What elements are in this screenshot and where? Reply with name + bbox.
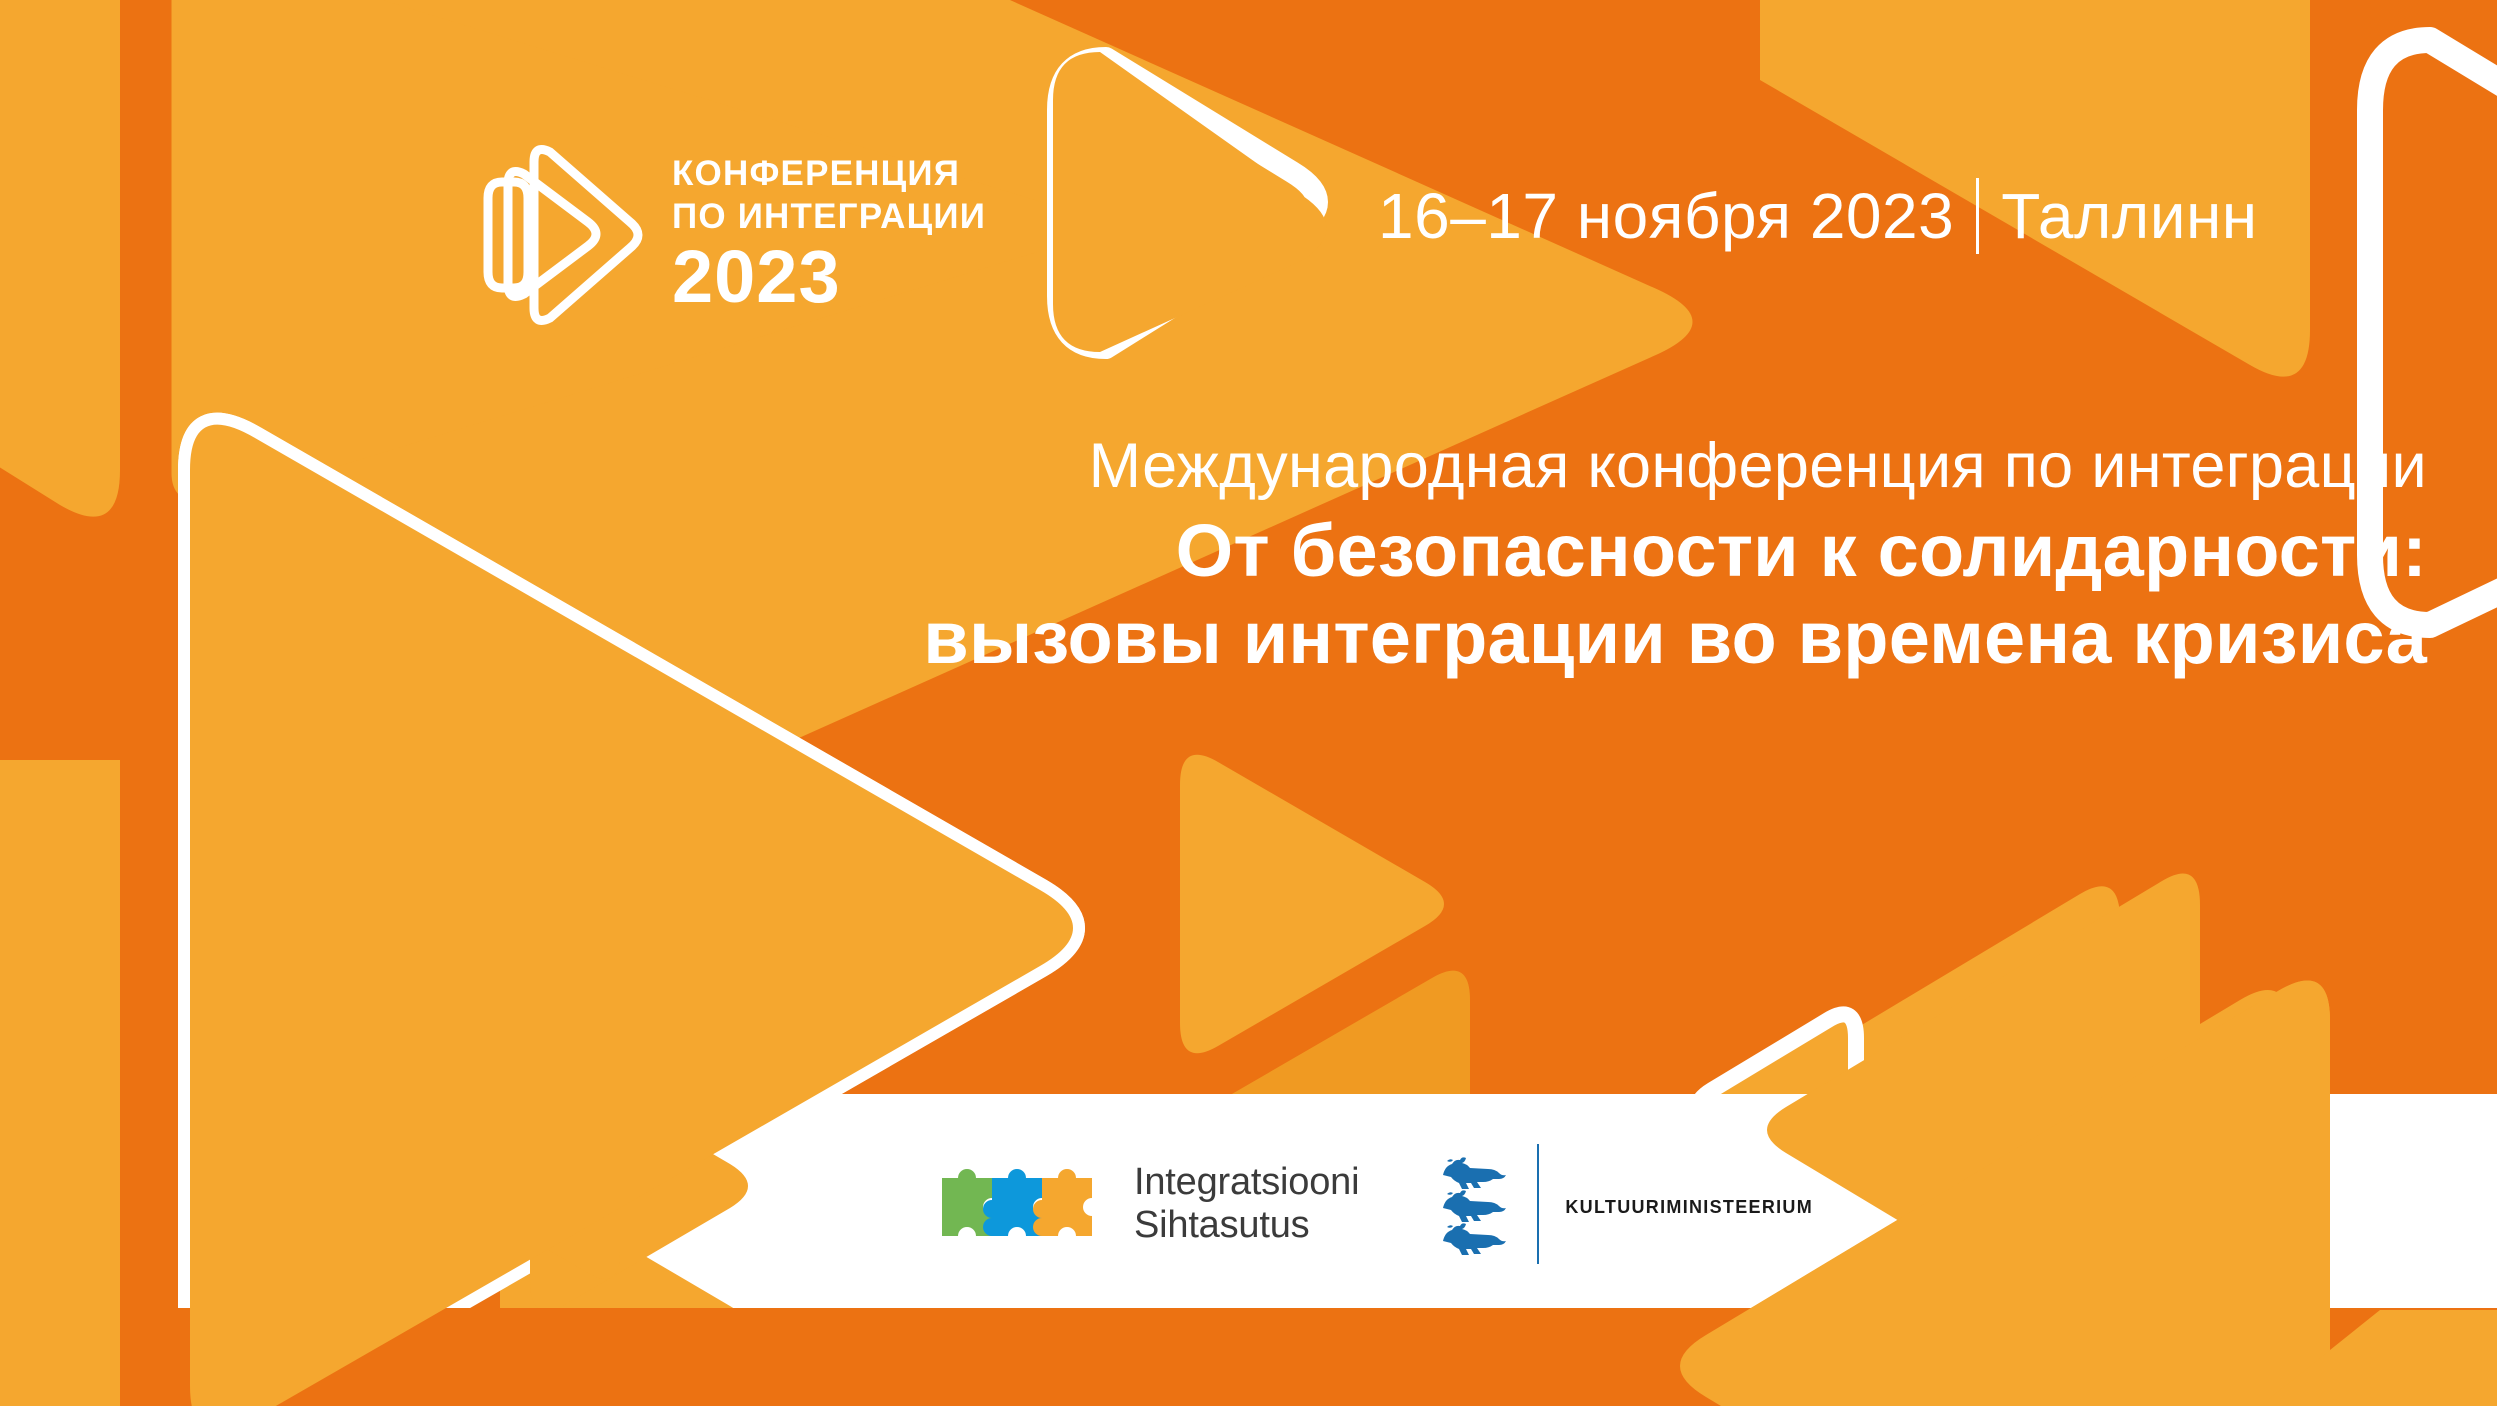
puzzle-pieces-icon — [940, 1156, 1116, 1252]
partner-name-kultuuriministeerium: Kultuuriministeerium — [1565, 1189, 1813, 1220]
partner-name-line-2: Sihtasutus — [1134, 1204, 1359, 1247]
nested-play-triangles-logo-icon — [470, 140, 646, 330]
estonian-coat-of-arms-icon — [1437, 1151, 1511, 1257]
conference-logo: КОНФЕРЕНЦИЯ ПО ИНТЕГРАЦИИ 2023 — [470, 140, 986, 330]
conference-banner: КОНФЕРЕНЦИЯ ПО ИНТЕГРАЦИИ 2023 16–17 ноя… — [0, 0, 2497, 1406]
vertical-divider — [1976, 178, 1979, 254]
logo-line-1: КОНФЕРЕНЦИЯ — [672, 156, 986, 191]
headline-title-line-2: вызовы интеграции во времена кризиса — [0, 595, 2427, 682]
banner-content: КОНФЕРЕНЦИЯ ПО ИНТЕГРАЦИИ 2023 16–17 ноя… — [0, 0, 2497, 1406]
logo-year: 2023 — [672, 240, 986, 314]
ministry-logo-divider — [1537, 1144, 1539, 1264]
partner-name-line-1: Integratsiooni — [1134, 1161, 1359, 1204]
event-city: Таллинн — [2001, 179, 2257, 253]
event-date-location: 16–17 ноября 2023 Таллинн — [1378, 178, 2258, 254]
partner-logo-kultuuriministeerium: Kultuuriministeerium — [1437, 1144, 1813, 1264]
partner-logos: Integratsiooni Sihtasutus — [940, 1140, 1813, 1268]
partner-logo-integratsiooni-sihtasutus: Integratsiooni Sihtasutus — [940, 1156, 1359, 1252]
event-dates: 16–17 ноября 2023 — [1378, 179, 1954, 253]
headline-kicker: Международная конференция по интеграции — [0, 430, 2427, 502]
partner-name-integratsiooni-sihtasutus: Integratsiooni Sihtasutus — [1134, 1161, 1359, 1248]
conference-logo-wordmark: КОНФЕРЕНЦИЯ ПО ИНТЕГРАЦИИ 2023 — [672, 156, 986, 314]
logo-line-2: ПО ИНТЕГРАЦИИ — [672, 199, 986, 234]
headline-block: Международная конференция по интеграции … — [0, 430, 2427, 682]
headline-title-line-1: От безопасности к солидарности: — [0, 508, 2427, 595]
